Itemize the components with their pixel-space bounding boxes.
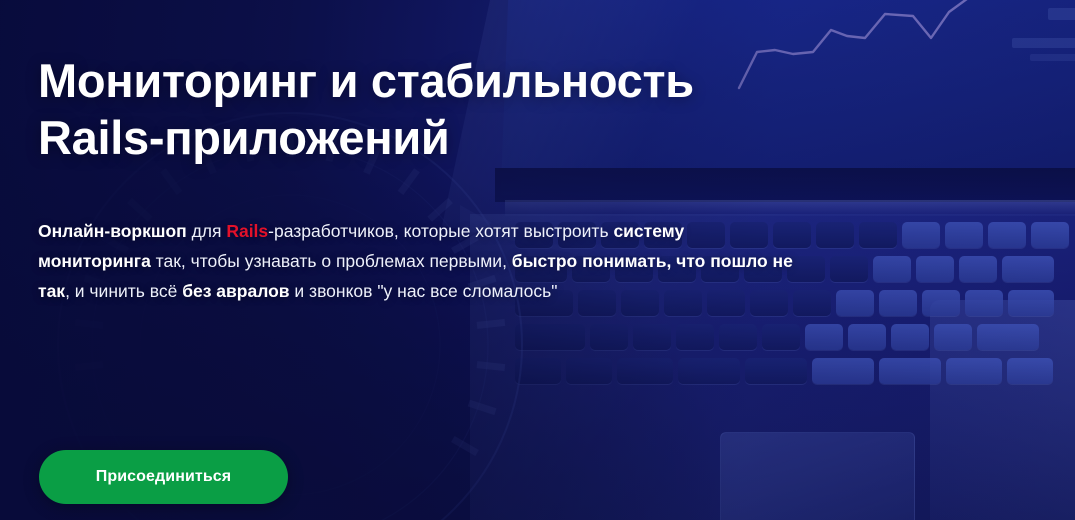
- description-bold-workshop: Онлайн-воркшоп: [38, 221, 187, 241]
- description-text: , и чинить всё: [65, 281, 182, 301]
- laptop-deck-edge: [930, 300, 1075, 520]
- hero-banner: Мониторинг и стабильность Rails-приложен…: [0, 0, 1075, 520]
- brand-rails-highlight: Rails: [226, 221, 268, 241]
- screen-ui-block: [1030, 54, 1075, 61]
- hero-content: Мониторинг и стабильность Rails-приложен…: [38, 0, 848, 520]
- headline-line-2: Rails-приложений: [38, 109, 694, 166]
- headline-line-1: Мониторинг и стабильность: [38, 52, 694, 109]
- description-text: -разработчиков, которые хотят выстроить: [268, 221, 613, 241]
- description-text: так, чтобы узнавать о проблемах первыми,: [151, 251, 512, 271]
- screen-ui-block: [1048, 8, 1075, 20]
- description-bold-noemergency: без авралов: [182, 281, 289, 301]
- screen-ui-block: [1012, 38, 1075, 48]
- description-text: и звонков "у нас все сломалось": [290, 281, 558, 301]
- hero-description: Онлайн-воркшоп для Rails-разработчиков, …: [38, 216, 798, 306]
- description-text: для: [187, 221, 227, 241]
- page-title: Мониторинг и стабильность Rails-приложен…: [38, 52, 694, 166]
- join-button[interactable]: Присоединиться: [39, 450, 288, 504]
